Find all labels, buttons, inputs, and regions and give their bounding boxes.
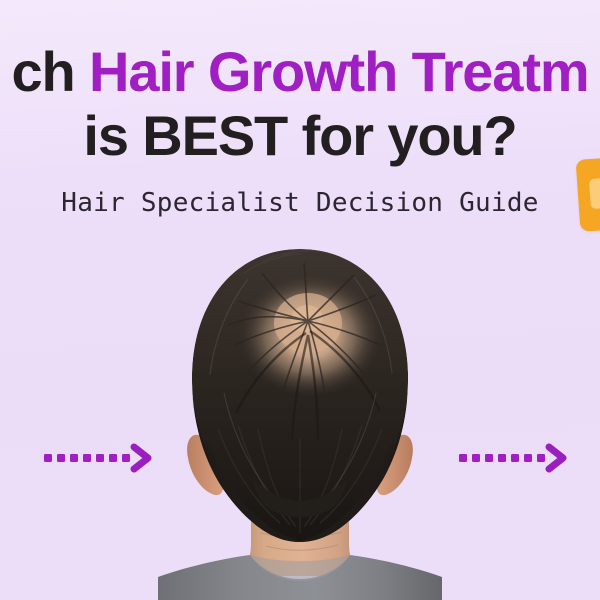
dotted-arrow-left — [42, 441, 154, 475]
orange-badge-inner-shape — [589, 177, 600, 209]
orange-badge — [576, 156, 600, 232]
headline-line-2: is BEST for you? — [0, 108, 600, 164]
dotted-arrow-right — [457, 441, 569, 475]
subtitle: Hair Specialist Decision Guide — [0, 188, 600, 218]
thumbnail-canvas: ch Hair Growth Treatm is BEST for you? H… — [0, 0, 600, 600]
headline-accent: Hair Growth Treatm — [89, 40, 589, 103]
headline-prefix: ch — [11, 40, 89, 103]
headline-line-1: ch Hair Growth Treatm — [0, 44, 600, 100]
head-photo — [158, 243, 442, 600]
